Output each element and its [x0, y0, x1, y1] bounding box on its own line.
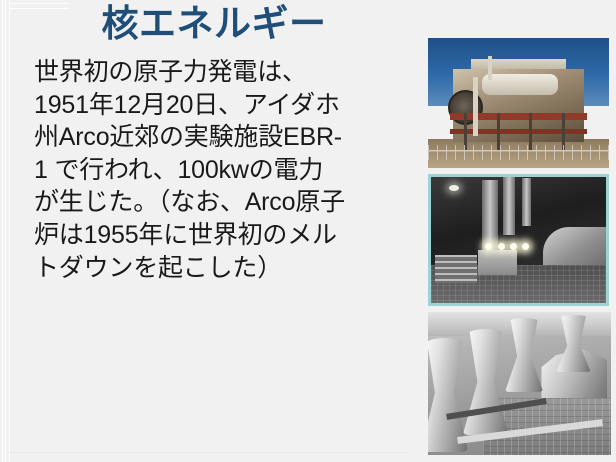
cooling-towers-aerial-photo: [428, 312, 611, 455]
stair-steps: [435, 255, 477, 283]
light-bulb: [485, 243, 492, 250]
body-line: 州Arco近郊の実験施設EBR-: [34, 121, 416, 154]
platform-deck: [450, 129, 588, 134]
slide-edge-stripe: [2, 0, 3, 462]
vertical-pipe: [473, 77, 478, 136]
photo-content: [428, 38, 609, 168]
body-line: 世界初の原子力発電は、: [34, 56, 416, 89]
reactor-vessel: [482, 74, 558, 95]
duct-pipe: [503, 177, 515, 235]
presentation-slide: 核エネルギー 世界初の原子力発電は、 1951年12月20日、アイダホ 州Arc…: [0, 0, 616, 462]
body-line: 1 で行われ、100kwの電力: [34, 154, 416, 187]
platform-deck: [450, 113, 588, 120]
photo-content: [431, 177, 606, 303]
slide-title: 核エネルギー: [14, 2, 414, 46]
body-line: トダウンを起こした）: [34, 252, 416, 285]
body-line: が生じた。（なお、Arco原子: [34, 186, 416, 219]
body-line: 炉は1955年に世界初のメル: [34, 219, 416, 252]
duct-pipe: [522, 178, 531, 226]
slide-decorative-rule: [9, 452, 409, 453]
slide-body-text: 世界初の原子力発電は、 1951年12月20日、アイダホ 州Arco近郊の実験施…: [34, 56, 416, 284]
photo-content: [428, 312, 611, 455]
bulbs-interior-photo: [428, 174, 609, 306]
slide-edge-stripe: [5, 0, 6, 462]
control-panel: [478, 250, 517, 275]
reactor-exterior-photo: [428, 38, 609, 168]
ceiling-lamp: [449, 185, 459, 191]
vertical-pipe: [488, 56, 492, 79]
light-bulb: [510, 243, 517, 250]
slide-edge-stripe: [9, 0, 10, 462]
light-bulb: [522, 243, 529, 250]
body-line: 1951年12月20日、アイダホ: [34, 89, 416, 122]
perimeter-fence: [428, 145, 609, 161]
light-bulb: [498, 243, 505, 250]
